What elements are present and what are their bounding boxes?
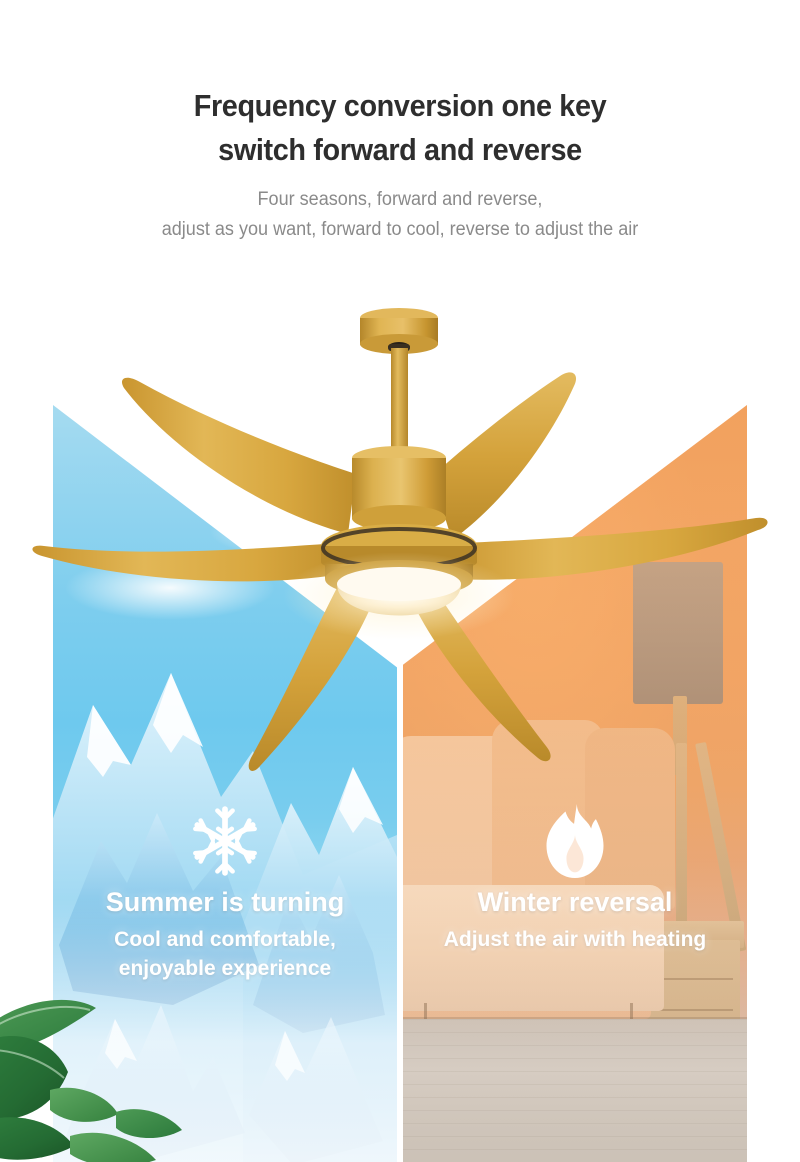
tropical-leaves-decoration <box>0 986 202 1162</box>
product-scene: Summer is turning Cool and comfortable, … <box>0 296 800 1106</box>
light-diffuser <box>337 584 461 616</box>
leaf-mid-right <box>50 1088 118 1122</box>
page-title-line-1: Frequency conversion one key <box>28 84 772 128</box>
winter-caption-title: Winter reversal <box>403 885 747 919</box>
page-subtitle-line-2: adjust as you want, forward to cool, rev… <box>20 215 780 245</box>
summer-caption: Summer is turning Cool and comfortable, … <box>53 803 397 983</box>
leaf-lower-left <box>0 1117 74 1159</box>
summer-caption-subtitle-line-1: Cool and comfortable, <box>53 925 397 954</box>
motor-housing <box>352 446 446 531</box>
summer-caption-title: Summer is turning <box>53 885 397 919</box>
ceiling-canopy <box>360 308 438 354</box>
fan-blade-upper-right <box>432 372 576 540</box>
panel-winter: Winter reversal Adjust the air with heat… <box>403 405 747 1162</box>
product-feature-page: Frequency conversion one key switch forw… <box>0 0 800 1162</box>
warm-tint-overlay <box>403 405 747 1162</box>
winter-caption-subtitle-line-1: Adjust the air with heating <box>403 925 747 954</box>
header: Frequency conversion one key switch forw… <box>0 0 800 245</box>
winter-caption: Winter reversal Adjust the air with heat… <box>403 803 747 954</box>
page-subtitle: Four seasons, forward and reverse, adjus… <box>20 185 780 245</box>
winter-caption-subtitle: Adjust the air with heating <box>403 925 747 954</box>
downrod <box>391 348 408 456</box>
page-title-line-2: switch forward and reverse <box>28 128 772 172</box>
summer-caption-subtitle-line-2: enjoyable experience <box>53 954 397 983</box>
page-title: Frequency conversion one key switch forw… <box>28 0 772 172</box>
leaf-right <box>116 1109 182 1138</box>
summer-caption-subtitle: Cool and comfortable, enjoyable experien… <box>53 925 397 983</box>
snowflake-icon <box>187 803 263 879</box>
flame-icon <box>544 803 606 879</box>
page-subtitle-line-1: Four seasons, forward and reverse, <box>20 185 780 215</box>
